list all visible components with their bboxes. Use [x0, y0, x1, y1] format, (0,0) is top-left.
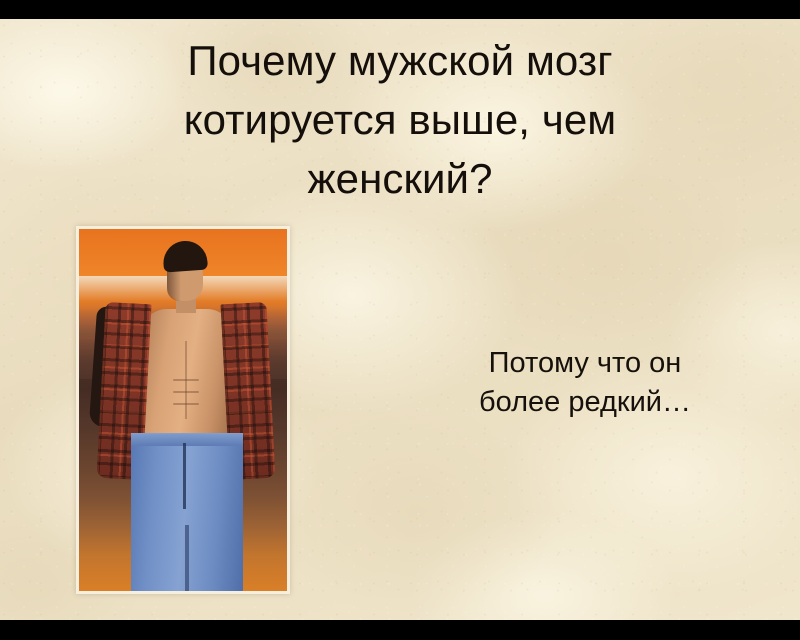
- jeans-fly: [183, 443, 186, 509]
- slide-canvas: Почему мужской мозг котируется выше, чем…: [0, 0, 800, 640]
- subtitle-line-1: Потому что он: [420, 344, 750, 383]
- title-line-3: женский?: [60, 149, 740, 208]
- title-line-2: котируется выше, чем: [60, 90, 740, 149]
- subtitle: Потому что он более редкий…: [420, 344, 750, 422]
- torso: [141, 309, 233, 439]
- abs-line-3: [173, 403, 199, 405]
- slide-stage: Почему мужской мозг котируется выше, чем…: [0, 19, 800, 620]
- photo-frame: [76, 226, 290, 594]
- abs-line-1: [173, 379, 199, 381]
- letterbox-bar-top: [0, 0, 800, 19]
- photo-figure: [79, 229, 287, 591]
- hair: [162, 240, 208, 273]
- abs-line-2: [173, 391, 199, 393]
- subtitle-line-2: более редкий…: [420, 383, 750, 422]
- photo-man-in-plaid-shirt: [79, 229, 287, 591]
- jeans-waistband: [131, 433, 243, 446]
- page-title: Почему мужской мозг котируется выше, чем…: [60, 31, 740, 208]
- letterbox-bar-bottom: [0, 620, 800, 640]
- title-line-1: Почему мужской мозг: [60, 31, 740, 90]
- jeans-leg-seam: [185, 525, 189, 591]
